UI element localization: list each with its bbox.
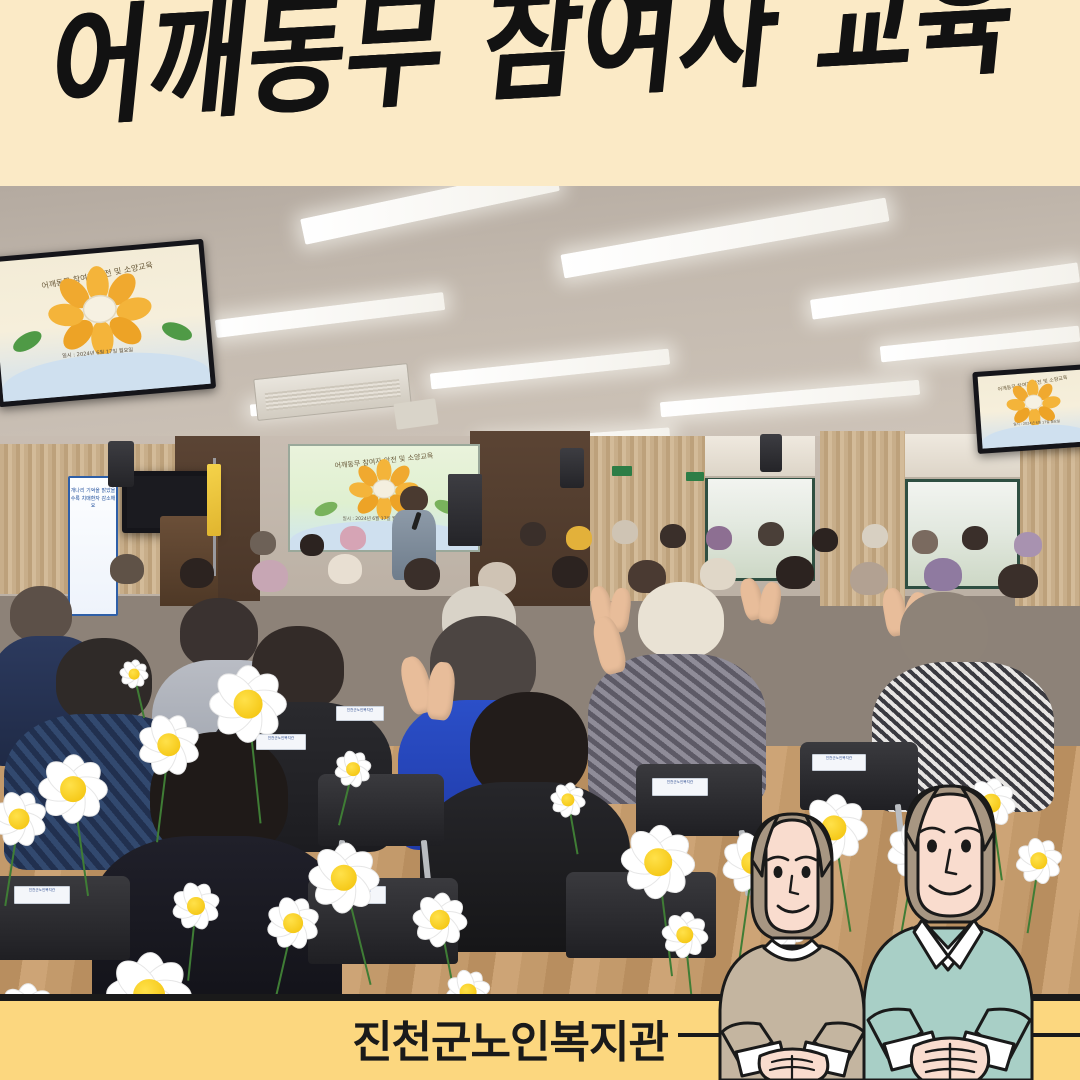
daisy-core [234, 690, 263, 719]
exit-sign [686, 472, 704, 481]
wall-speaker [560, 448, 584, 488]
audience-head [300, 534, 324, 556]
flag [207, 464, 221, 536]
daisy-core [129, 669, 140, 680]
audience-head [110, 554, 144, 584]
audience-head [850, 562, 888, 595]
audience-head [660, 524, 686, 548]
tv-screen: 어깨동무 참여자 안전 및 소양교육 일시 : 2024년 6월 17일 월 [978, 369, 1080, 448]
audience-head [1014, 532, 1042, 557]
audience-head [862, 524, 888, 548]
tv-monitor-left: 어깨동무 참여자 안전 및 소양교육 [0, 239, 216, 407]
audience-head [328, 554, 362, 584]
daisy-flower-icon [116, 656, 152, 692]
daisy-flower-icon [0, 784, 54, 854]
wall-speaker [108, 441, 134, 487]
chair-label: 진천군노인복지관 [336, 706, 384, 721]
audience-head [566, 526, 592, 550]
audience-head [912, 530, 938, 554]
chair-label-text: 진천군노인복지관 [339, 707, 380, 712]
cartoon-couple [700, 780, 1060, 1080]
exit-sign [612, 466, 632, 476]
audience-head [962, 526, 988, 550]
tv-screen: 어깨동무 참여자 안전 및 소양교육 [0, 244, 211, 402]
daisy-flower-icon [406, 886, 474, 954]
slide-cloud-shape [981, 421, 1080, 449]
chair-label-text: 진천군노인복지관 [18, 887, 67, 892]
wall-speaker [760, 434, 782, 472]
info-banner: 개나리 기억을 맑았을수록 치매환자 감소해요 [68, 476, 118, 616]
leaf-icon [159, 318, 195, 345]
daisy-core [644, 848, 672, 876]
audience-head [520, 522, 546, 546]
daisy-flower-icon [546, 778, 590, 822]
presenter-head [400, 486, 428, 512]
daisy-core [9, 809, 30, 830]
daisy-core [187, 897, 205, 915]
audience-head [776, 556, 814, 589]
cartoon-man [864, 786, 1032, 1080]
audience-head-hat [638, 582, 724, 658]
floor-speaker [448, 474, 482, 546]
daisy-core [346, 762, 360, 776]
leaf-icon [10, 328, 46, 355]
audience-head [900, 592, 988, 670]
tv-monitor-right: 어깨동무 참여자 안전 및 소양교육 일시 : 2024년 6월 17일 월 [972, 364, 1080, 454]
audience-head [758, 522, 784, 546]
audience-head [404, 558, 440, 590]
chair-label-text: 진천군노인복지관 [656, 779, 705, 784]
page-title: 어깨동무 참여자 교육 [45, 0, 1037, 135]
chair-label: 진천군노인복지관 [812, 754, 866, 771]
audience-head [706, 526, 732, 550]
audience-head [812, 528, 838, 552]
audience-head [180, 558, 214, 588]
chair-label-text: 진천군노인복지관 [816, 755, 863, 760]
daisy-core [60, 776, 86, 802]
daisy-flower-icon [612, 816, 704, 908]
daisy-flower-icon [166, 876, 226, 936]
title-band: 어깨동무 참여자 교육 [0, 0, 1080, 186]
daisy-flower-icon [200, 656, 296, 752]
audience-head [612, 520, 638, 544]
cartoon-woman [720, 814, 864, 1080]
daisy-flower-icon [300, 834, 388, 922]
audience-head [924, 558, 962, 591]
daisy-flower-icon [330, 746, 376, 792]
leaf-icon [313, 500, 339, 518]
audience-head [552, 556, 588, 588]
audience-head [700, 558, 736, 590]
poster-card: 어깨동무 참여자 교육 [0, 0, 1080, 1080]
audience-head [10, 586, 72, 642]
flower-graphic [41, 258, 159, 359]
audience-head [252, 560, 288, 592]
daisy-flower-icon [130, 706, 208, 784]
daisy-core [283, 913, 303, 933]
audience-head [340, 526, 366, 550]
audience-head [250, 531, 276, 555]
chair-label: 진천군노인복지관 [14, 886, 70, 904]
audience-head [998, 564, 1038, 598]
